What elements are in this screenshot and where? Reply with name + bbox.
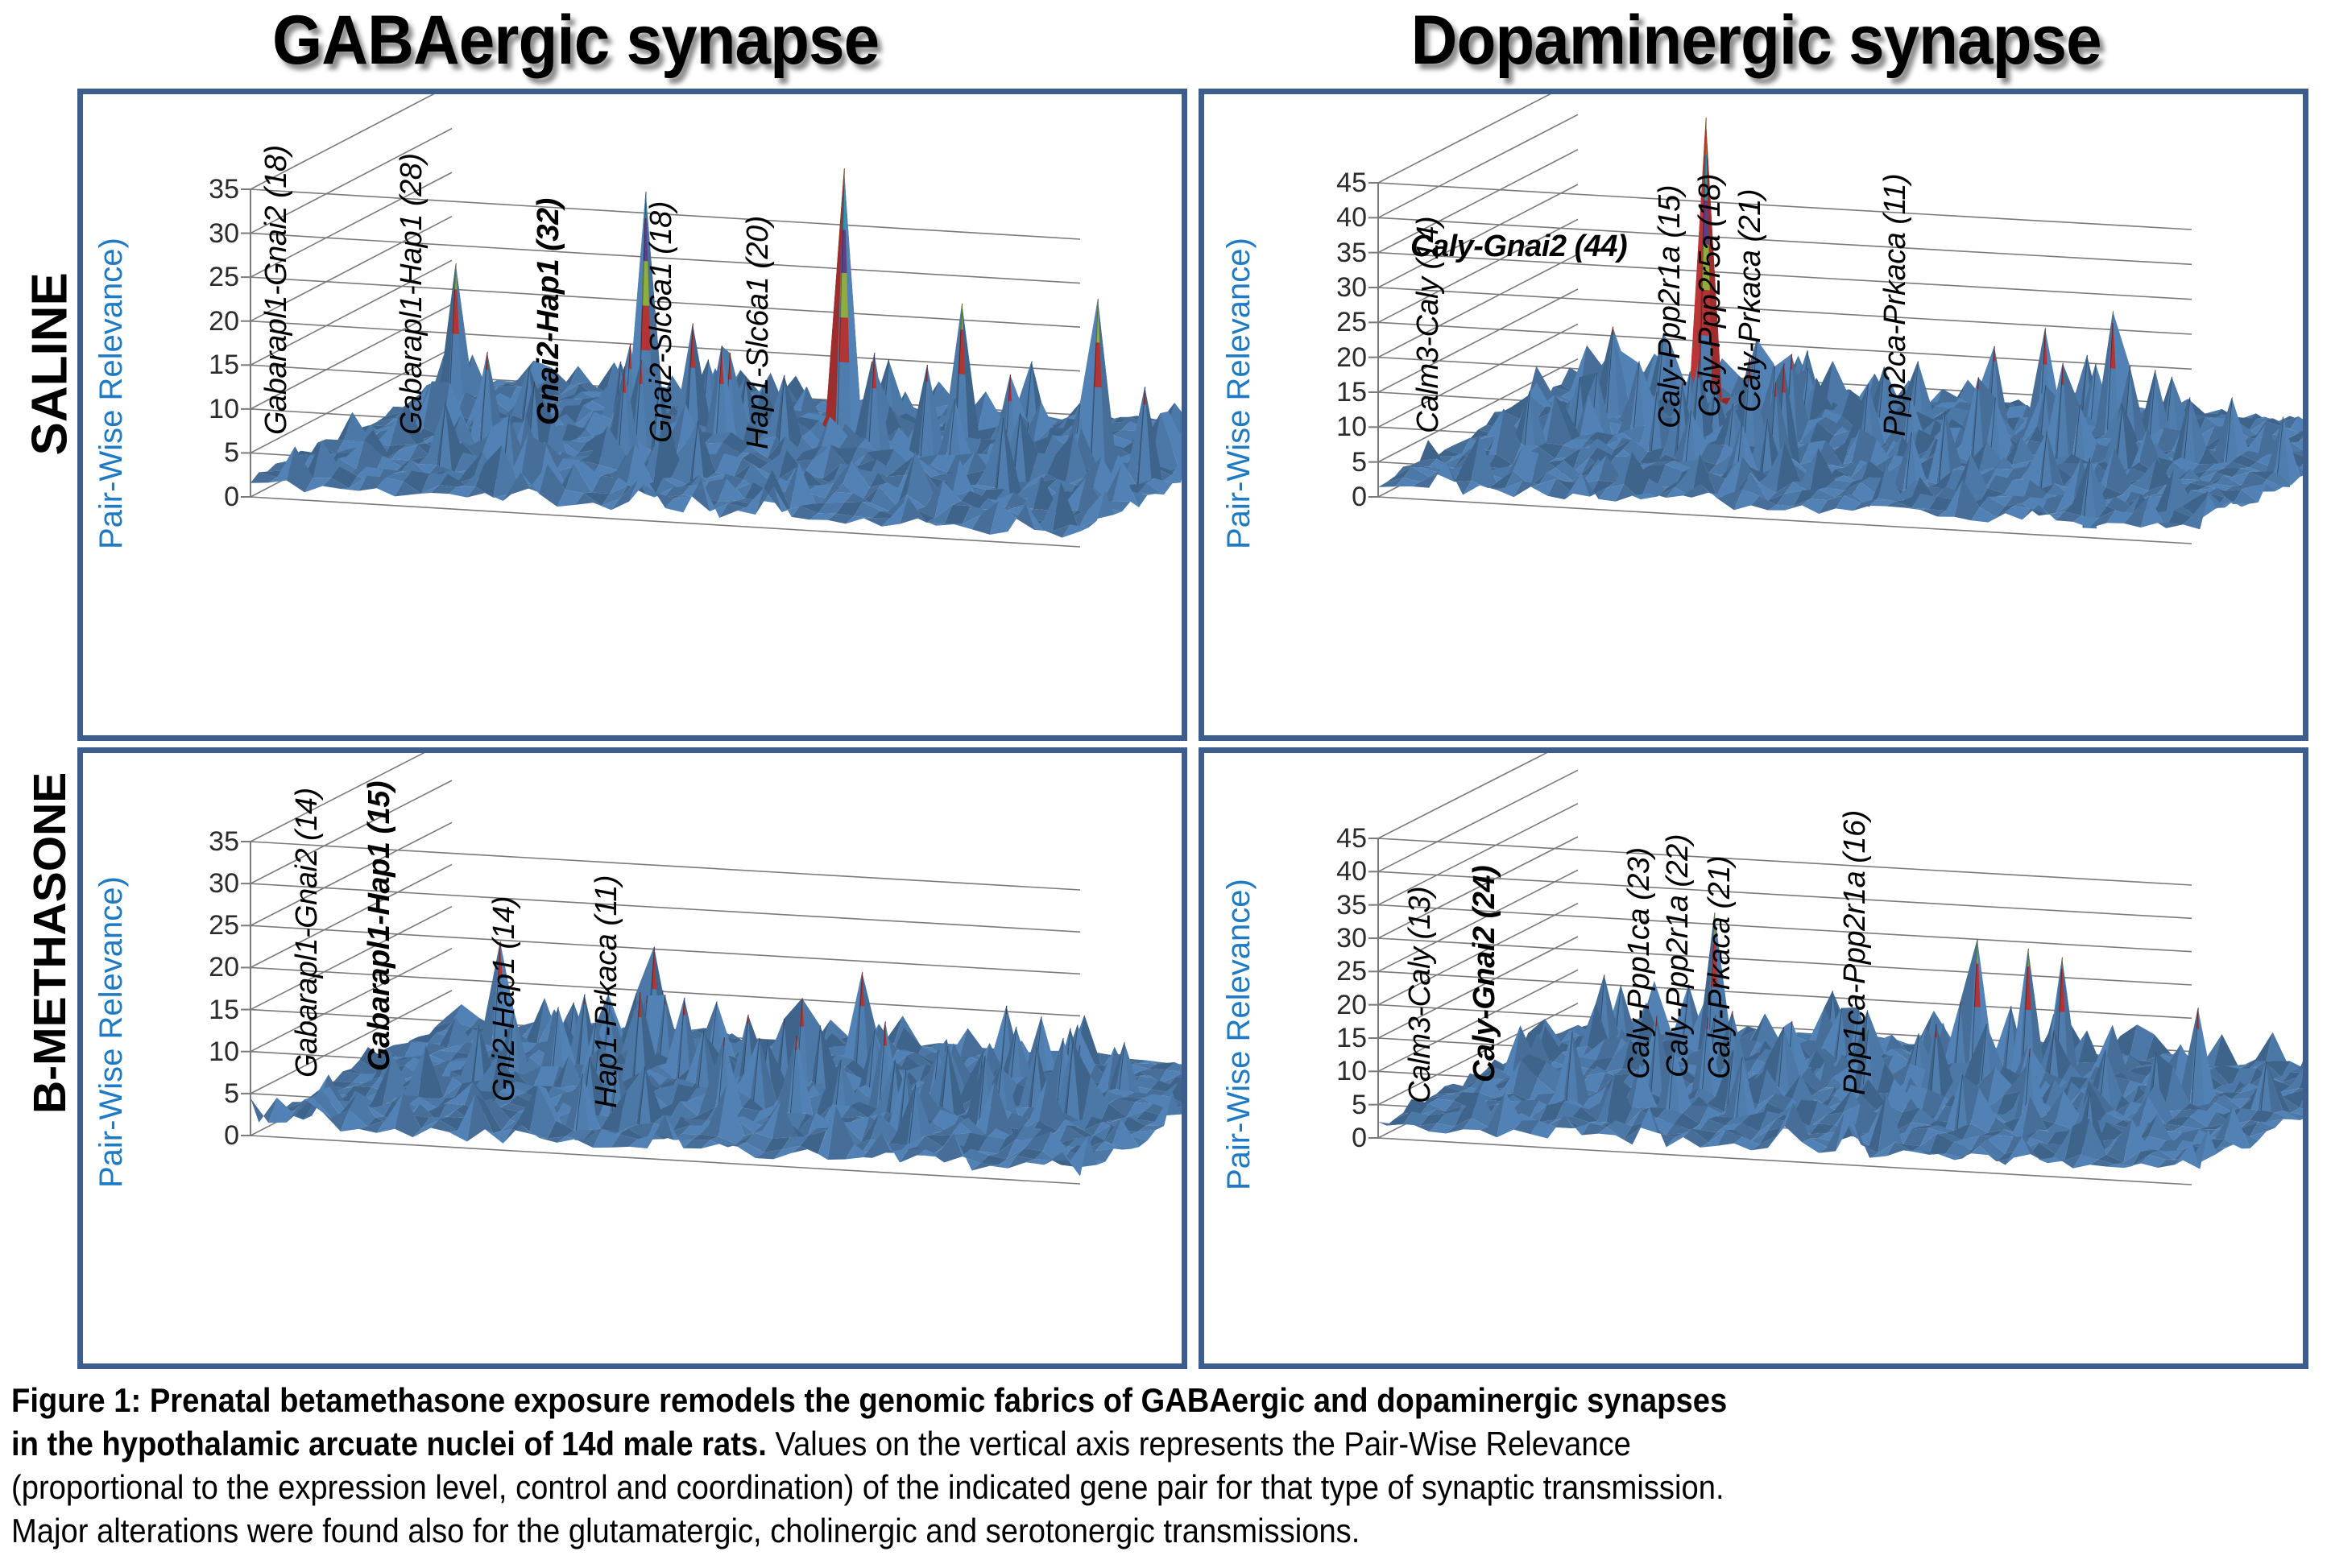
peak-label: Ppp1ca-Ppp2r1a (16) [1838, 810, 1873, 1095]
peak-label: Hap1-Slc6a1 (20) [741, 216, 776, 449]
peak-label: Caly-Ppp2r1a (15) [1653, 185, 1687, 428]
peak-label: Hap1-Prkaca (11) [590, 875, 624, 1108]
panel-saline-gabaergic: 05101520253035Pair-Wise Relevance)Gabara… [77, 89, 1187, 741]
peak-label: Caly-Ppp1ca (23) [1622, 847, 1657, 1079]
figure-titles: GABAergic synapse Dopaminergic synapse [0, 0, 2331, 81]
panel-saline-dopaminergic: 051015202530354045Pair-Wise Relevance)Ca… [1199, 89, 2308, 741]
row-label-saline: SALINE [22, 295, 79, 456]
surface-mesh [250, 168, 1182, 538]
row-label-bmethasone: B-METHASONE [23, 953, 77, 1114]
caption-line2-bold: in the hypothalamic arcuate nuclei of 14… [11, 1425, 767, 1463]
panel-bmethasone-dopaminergic: 051015202530354045Pair-Wise Relevance)Ca… [1199, 747, 2308, 1369]
caption-line4: Major alterations were found also for th… [11, 1509, 2138, 1553]
peak-label: Caly-Ppp2r5a (18) [1693, 174, 1728, 417]
peak-label: Gnai2-Hap1 (32) [532, 198, 566, 425]
peak-label: Caly-Prkaca (21) [1703, 856, 1737, 1079]
peak-label: Caly-Prkaca (21) [1733, 189, 1768, 412]
peak-label: Caly-Ppp2r1a (22) [1661, 834, 1695, 1078]
panel-grid: 05101520253035Pair-Wise Relevance)Gabara… [77, 89, 2308, 1369]
peak-label: Gabarapl1-Hap1 (15) [362, 781, 397, 1071]
caption-line2-rest: Values on the vertical axis represents t… [767, 1425, 1631, 1463]
title-dopaminergic: Dopaminergic synapse [1214, 0, 2290, 81]
peak-label: Caly-Gnai2 (24) [1468, 866, 1502, 1082]
peak-label: Gabarapl1-Gnai2 (18) [259, 145, 294, 435]
surface-plot-saline-gabaergic [83, 94, 1182, 735]
peak-label: Ppp2ca-Prkaca (11) [1878, 174, 1913, 436]
caption-line3: (proportional to the expression level, c… [11, 1466, 2138, 1509]
peak-label: Gni2-Hap1 (14) [487, 896, 522, 1102]
surface-mesh [1378, 118, 2303, 529]
peak-label: Gabarapl1-Gnai2 (14) [290, 788, 325, 1078]
surface-plot-bmethasone-gabaergic [83, 753, 1182, 1363]
peak-label: Gabarapl1-Hap1 (28) [395, 153, 429, 435]
peak-label: Gnai2-Slc6a1 (18) [644, 201, 679, 443]
surface-plot-bmethasone-dopaminergic [1204, 753, 2303, 1363]
peak-label: Calm3-Caly (13) [1403, 887, 1438, 1103]
peak-label: Caly-Gnai2 (44) [1410, 230, 1627, 264]
caption-line1: Figure 1: Prenatal betamethasone exposur… [11, 1381, 1727, 1419]
figure-caption: Figure 1: Prenatal betamethasone exposur… [11, 1379, 2138, 1553]
title-gabaergic: GABAergic synapse [41, 0, 1132, 81]
panel-bmethasone-gabaergic: 05101520253035Pair-Wise Relevance)Gabara… [77, 747, 1187, 1369]
